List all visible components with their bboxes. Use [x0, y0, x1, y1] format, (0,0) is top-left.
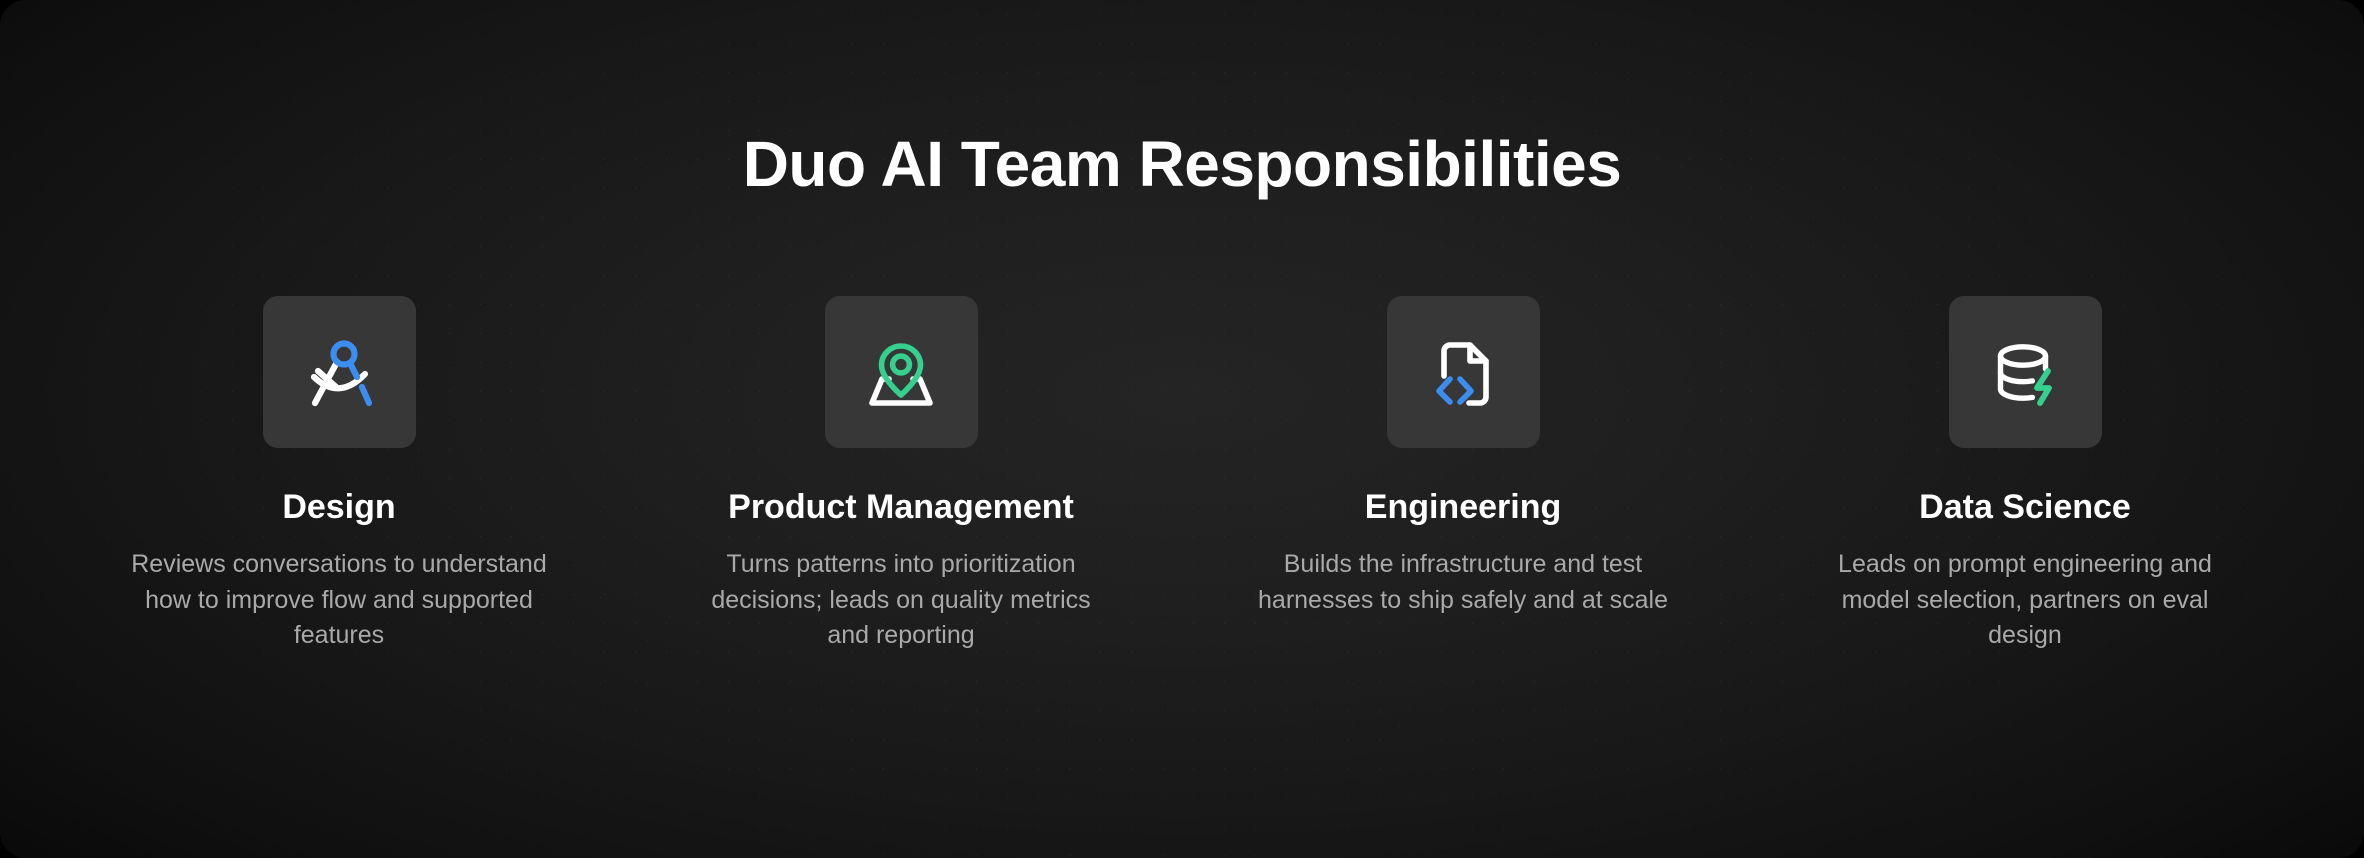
card-title-engineering: Engineering — [1365, 488, 1561, 527]
database-bolt-icon — [1982, 329, 2068, 415]
responsibility-cards: Design Reviews conversations to understa… — [0, 296, 2364, 654]
card-description-product-management: Turns patterns into prioritization decis… — [691, 547, 1111, 654]
icon-tile-engineering — [1387, 296, 1540, 448]
page-title: Duo AI Team Responsibilities — [0, 131, 2364, 198]
slide-content: Duo AI Team Responsibilities — [0, 0, 2364, 858]
card-description-design: Reviews conversations to understand how … — [129, 547, 549, 654]
icon-tile-design — [263, 296, 416, 448]
slide-canvas: Duo AI Team Responsibilities — [0, 0, 2364, 858]
code-file-icon — [1420, 329, 1506, 415]
icon-tile-data-science — [1949, 296, 2102, 448]
card-product-management: Product Management Turns patterns into p… — [681, 296, 1121, 654]
icon-tile-product-management — [825, 296, 978, 448]
card-design: Design Reviews conversations to understa… — [119, 296, 559, 654]
card-title-design: Design — [282, 488, 395, 527]
design-compass-icon — [296, 329, 382, 415]
map-pin-roadmap-icon — [858, 329, 944, 415]
card-engineering: Engineering Builds the infrastructure an… — [1243, 296, 1683, 618]
card-title-product-management: Product Management — [728, 488, 1074, 527]
card-title-data-science: Data Science — [1919, 488, 2131, 527]
card-data-science: Data Science Leads on prompt engineering… — [1805, 296, 2245, 654]
card-description-data-science: Leads on prompt engineering and model se… — [1815, 547, 2235, 654]
card-description-engineering: Builds the infrastructure and test harne… — [1253, 547, 1673, 618]
